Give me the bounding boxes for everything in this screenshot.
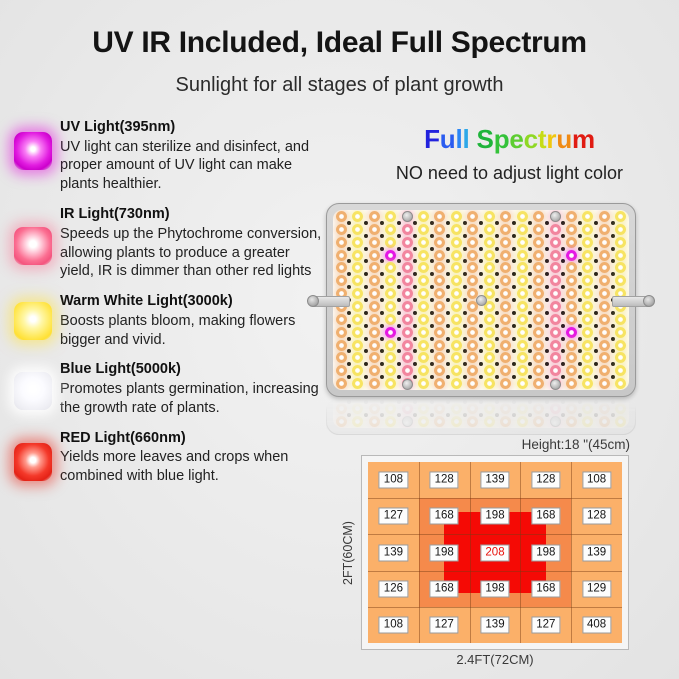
orange-led [467,275,478,286]
led-panel [326,203,636,397]
heatmap-border: 1081281391281081271681981681281391982081… [361,455,629,650]
led-pin [594,324,598,328]
yellow-led [484,365,495,376]
pink-led [550,262,561,273]
feature-title: UV Light(395nm) [60,118,324,138]
orange-led [369,211,380,222]
yellow-led [451,262,462,273]
heatmap-gridline-h [368,534,622,535]
pink-led [550,301,561,312]
led-pin [528,285,532,289]
orange-led [467,378,478,389]
led-pin [512,375,516,379]
orange-led [533,378,544,389]
feature-body: Warm White Light(3000k)Boosts plants blo… [60,292,330,349]
led-pin [495,234,499,238]
led-pin [611,285,615,289]
pink-led [550,288,561,299]
led-pin [380,311,384,315]
orange-led [599,340,610,351]
heatmap-cell-value: 139 [379,544,408,561]
orange-led [369,301,380,312]
led-pin [512,234,516,238]
uv-led [385,250,396,261]
led-pin [512,221,516,225]
orange-led [467,211,478,222]
panel-screw [402,211,413,222]
led-pin [495,311,499,315]
yellow-led [352,237,363,248]
pink-led [550,352,561,363]
orange-led [500,301,511,312]
yellow-led [582,314,593,325]
led-pin [380,272,384,276]
heatmap-y-axis-label: 2FT(60CM) [337,455,359,650]
orange-led [566,365,577,376]
orange-led [599,275,610,286]
led-pin [463,413,467,417]
yellow-led [484,378,495,389]
led-pin [611,362,615,366]
orange-led [500,262,511,273]
led-pin [545,234,549,238]
led-pin [347,413,351,417]
led-pin [397,311,401,315]
led-pin [578,362,582,366]
orange-led [369,237,380,248]
led-pin [413,400,417,404]
led-pin [594,413,598,417]
led-pin [578,285,582,289]
yellow-led [451,365,462,376]
pink-led [402,365,413,376]
yellow-led [352,365,363,376]
led-pin [578,311,582,315]
orange-led [467,250,478,261]
yellow-led [352,301,363,312]
yellow-led [352,327,363,338]
orange-led [500,399,511,401]
yellow-led [385,314,396,325]
orange-led [500,403,511,414]
orange-led [336,403,347,414]
orange-led [467,352,478,363]
orange-led [500,416,511,427]
yellow-led [517,352,528,363]
led-pin [578,247,582,251]
led-pin [413,375,417,379]
orange-led [467,340,478,351]
feature-red: RED Light(660nm)Yields more leaves and c… [0,429,330,486]
led-pin [578,337,582,341]
led-pin [594,285,598,289]
led-pin [364,375,368,379]
led-pin [528,349,532,353]
yellow-led [385,301,396,312]
led-pin [479,349,483,353]
pink-led [402,275,413,286]
yellow-led [582,262,593,273]
orange-led [434,250,445,261]
yellow-led [385,224,396,235]
panel-screw [402,379,413,390]
led-pin [413,413,417,417]
yellow-led [418,352,429,363]
led-pin [463,285,467,289]
feature-list: UV Light(395nm)UV light can sterilize an… [0,118,330,497]
led-pin [545,337,549,341]
orange-led [336,314,347,325]
led-pin [561,247,565,251]
led-pin [512,259,516,263]
orange-led [500,211,511,222]
led-pin [512,324,516,328]
led-pin [561,324,565,328]
led-pin [364,285,368,289]
uv-led [566,250,577,261]
yellow-led [615,224,626,235]
led-pin [430,375,434,379]
led-pin [463,362,467,366]
yellow-led [484,352,495,363]
led-pin [495,375,499,379]
feature-description: UV light can sterilize and disinfect, an… [60,138,324,195]
led-pin [397,362,401,366]
orange-led [599,352,610,363]
led-pin [347,400,351,404]
yellow-led [451,237,462,248]
orange-led [434,327,445,338]
yellow-led [615,250,626,261]
led-pin [528,247,532,251]
yellow-led [451,378,462,389]
led-pin [578,413,582,417]
led-pin [380,324,384,328]
led-pin [347,247,351,251]
heatmap-cell-value: 129 [582,580,611,597]
led-pin [594,375,598,379]
led-pin [611,400,615,404]
red-led-icon [14,443,52,481]
led-panel-reflection [326,399,636,435]
led-pin [594,337,598,341]
led-pin [512,298,516,302]
led-pin [561,375,565,379]
orange-led [599,378,610,389]
orange-led [434,275,445,286]
led-pin [479,413,483,417]
led-pin [528,311,532,315]
led-pin [594,221,598,225]
led-pin [512,337,516,341]
orange-led [599,262,610,273]
pink-led [550,365,561,376]
heatmap-cell-value: 408 [582,616,611,633]
led-pin [495,324,499,328]
yellow-led [582,327,593,338]
led-pin [397,247,401,251]
spectrum-letter [470,124,477,154]
led-pin [413,324,417,328]
orange-led [533,275,544,286]
led-pin [413,272,417,276]
led-pin [397,375,401,379]
led-pin [545,221,549,225]
yellow-led [517,378,528,389]
heatmap-gridline-h [368,498,622,499]
orange-led [467,365,478,376]
led-pin [430,362,434,366]
led-pin [495,221,499,225]
orange-led [369,378,380,389]
orange-led [533,327,544,338]
led-pin [397,221,401,225]
led-pin [397,413,401,417]
pink-led [402,340,413,351]
feature-warm-white: Warm White Light(3000k)Boosts plants blo… [0,292,330,349]
reflection-image [326,399,636,435]
yellow-led [451,416,462,427]
yellow-led [582,340,593,351]
led-pin [413,337,417,341]
led-pin [397,272,401,276]
heatmap-cell-value: 108 [379,472,408,489]
yellow-led [517,275,528,286]
led-pin [594,349,598,353]
led-pin [479,259,483,263]
led-pin [479,311,483,315]
heatmap-gridline-h [368,571,622,572]
orange-led [566,224,577,235]
led-pin [430,298,434,302]
orange-led [467,403,478,414]
spectrum-letter: F [424,124,440,154]
orange-led [599,399,610,401]
orange-led [369,275,380,286]
panel-screw [476,295,487,306]
orange-led [434,224,445,235]
led-pin [528,298,532,302]
pink-led [550,340,561,351]
orange-led [566,403,577,414]
orange-led [566,314,577,325]
yellow-led [517,399,528,401]
led-panel-face [333,399,629,428]
yellow-led [385,211,396,222]
pink-led [402,327,413,338]
led-pin [528,272,532,276]
yellow-led [517,262,528,273]
orange-led [599,224,610,235]
led-pin [380,349,384,353]
yellow-led [418,301,429,312]
led-pin [479,234,483,238]
yellow-led [615,327,626,338]
orange-led [500,365,511,376]
yellow-led [484,416,495,427]
orange-led [369,352,380,363]
heatmap-cell-value: 108 [379,616,408,633]
yellow-led [615,378,626,389]
led-pin [364,362,368,366]
heatmap-cell-value: 208 [480,544,509,561]
orange-led [599,365,610,376]
yellow-led [582,211,593,222]
yellow-led [484,224,495,235]
led-pin [446,298,450,302]
led-pin [545,324,549,328]
yellow-led [484,237,495,248]
yellow-led [352,399,363,401]
yellow-led [582,416,593,427]
yellow-led [582,250,593,261]
orange-led [500,352,511,363]
led-pin [446,259,450,263]
led-pin [611,337,615,341]
spectrum-letter: e [509,124,523,154]
orange-led [336,237,347,248]
feature-title: IR Light(730nm) [60,205,324,225]
led-pin [380,337,384,341]
feature-title: Blue Light(5000k) [60,360,324,380]
led-pin [463,375,467,379]
orange-led [533,340,544,351]
feature-title: Warm White Light(3000k) [60,292,324,312]
yellow-led [352,403,363,414]
led-pin [430,285,434,289]
led-pin [528,221,532,225]
led-pin [594,400,598,404]
led-pin [364,413,368,417]
orange-led [369,224,380,235]
yellow-led [582,224,593,235]
orange-led [533,365,544,376]
orange-led [467,262,478,273]
orange-led [533,224,544,235]
yellow-led [385,403,396,414]
yellow-led [385,288,396,299]
yellow-led [385,262,396,273]
yellow-led [352,250,363,261]
led-pin [479,247,483,251]
orange-led [336,399,347,401]
yellow-led [418,416,429,427]
pink-led [402,237,413,248]
orange-led [434,352,445,363]
spectrum-letter: l [462,124,469,154]
led-pin [528,337,532,341]
heatmap-cell-value: 198 [480,508,509,525]
yellow-led [418,288,429,299]
led-pin [512,272,516,276]
yellow-led [582,288,593,299]
led-pin [528,375,532,379]
led-pin [413,362,417,366]
led-pin [611,272,615,276]
yellow-led [451,288,462,299]
orange-led [369,416,380,427]
panel-screw [402,416,413,427]
spectrum-letter: u [440,124,456,154]
heatmap-cell-value: 198 [531,544,560,561]
yellow-led [484,327,495,338]
pink-led [550,314,561,325]
yellow-led [615,237,626,248]
led-pin [611,259,615,263]
led-pin [347,234,351,238]
yellow-led [484,262,495,273]
led-pin [561,298,565,302]
led-pin [364,400,368,404]
yellow-led [582,378,593,389]
yellow-led [451,327,462,338]
orange-led [533,211,544,222]
yellow-led [517,314,528,325]
pink-led [402,288,413,299]
led-pin [611,247,615,251]
feature-ir: IR Light(730nm)Speeds up the Phytochrome… [0,205,330,281]
orange-led [434,378,445,389]
led-pin [479,324,483,328]
led-pin [446,375,450,379]
orange-led [599,288,610,299]
yellow-led [352,340,363,351]
led-pin [561,221,565,225]
yellow-led [451,352,462,363]
yellow-led [418,399,429,401]
yellow-led [418,365,429,376]
yellow-led [418,340,429,351]
led-pin [561,349,565,353]
led-pin [463,234,467,238]
led-pin [430,234,434,238]
yellow-led [418,327,429,338]
yellow-led [582,399,593,401]
orange-led [369,365,380,376]
led-pin [397,259,401,263]
orange-led [434,314,445,325]
led-pin [479,285,483,289]
led-pin [495,337,499,341]
led-panel-face [333,210,629,390]
heatmap-gridline-h [368,607,622,608]
led-pin [364,221,368,225]
yellow-led [385,365,396,376]
yellow-led [615,403,626,414]
led-pin [347,362,351,366]
led-pin [545,247,549,251]
led-pin [397,324,401,328]
orange-led [500,340,511,351]
led-pin [364,349,368,353]
led-pin [380,298,384,302]
led-pin [479,400,483,404]
yellow-led [582,365,593,376]
feature-body: Blue Light(5000k)Promotes plants germina… [60,360,330,417]
uv-led [385,327,396,338]
led-pin [413,247,417,251]
heatmap-cell-value: 198 [480,580,509,597]
yellow-led [517,340,528,351]
orange-led [467,224,478,235]
feature-blue: Blue Light(5000k)Promotes plants germina… [0,360,330,417]
panel-screw [550,211,561,222]
spectrum-letter: m [572,124,595,154]
led-pin [594,247,598,251]
orange-led [599,416,610,427]
led-pin [364,259,368,263]
heatmap-cell-value: 126 [379,580,408,597]
